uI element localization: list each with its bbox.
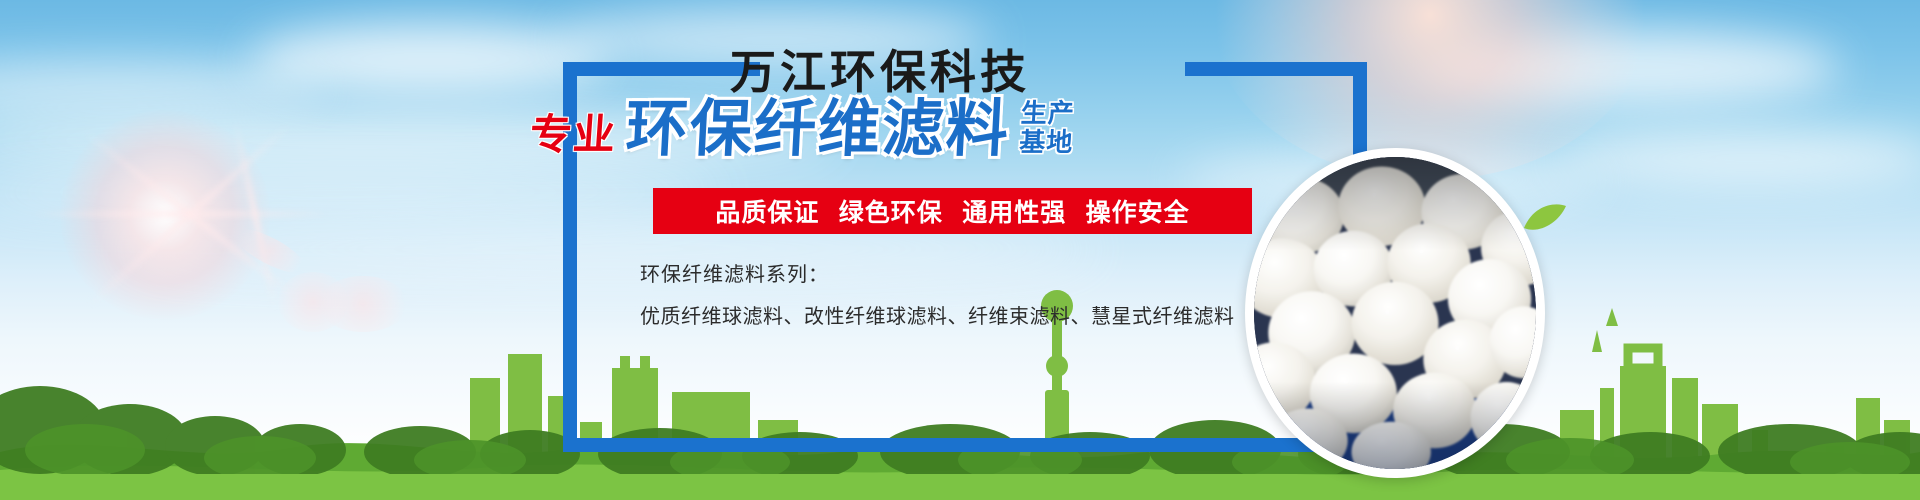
tree-silhouettes bbox=[0, 354, 1920, 474]
product-photo-circle bbox=[1245, 148, 1545, 478]
headline-main: 环保纤维滤料 bbox=[624, 98, 1011, 160]
feature-strip: 品质保证 绿色环保 通用性强 操作安全 bbox=[653, 188, 1252, 234]
lens-flare-ghost-1 bbox=[229, 221, 312, 282]
lens-flare-spike-diagonal-1 bbox=[82, 129, 298, 299]
lens-flare-spike-horizontal bbox=[30, 211, 330, 217]
promo-banner: 万江环保科技 专业 环保纤维滤料 生产 基地 品质保证 绿色环保 通用性强 操作… bbox=[0, 0, 1920, 500]
cloud-4 bbox=[1560, 130, 1920, 186]
lens-flare-ghost-2 bbox=[278, 272, 348, 332]
grass-and-treeline bbox=[0, 422, 1920, 500]
lens-flare-spike-vertical bbox=[233, 121, 277, 308]
feature-strip-text: 品质保证 绿色环保 通用性强 操作安全 bbox=[715, 193, 1189, 229]
leaf-icon bbox=[1522, 202, 1568, 236]
headline-suffix-line2: 基地 bbox=[1019, 130, 1074, 156]
fiber-ball-photo bbox=[1254, 157, 1536, 469]
headline-suffix-line1: 生产 bbox=[1020, 101, 1075, 127]
headline-prefix: 专业 bbox=[529, 114, 618, 156]
frame-bar-bottom bbox=[563, 438, 1367, 452]
series-list: 优质纤维球滤料、改性纤维球滤料、纤维束滤料、慧星式纤维滤料 bbox=[640, 300, 1235, 329]
series-label: 环保纤维滤料系列： bbox=[640, 258, 829, 287]
lens-flare-spike-diagonal-2 bbox=[88, 122, 292, 306]
cloud-band-2 bbox=[0, 176, 720, 208]
lens-flare bbox=[60, 110, 270, 320]
lens-flare-ghost-3 bbox=[318, 276, 408, 332]
headline-suffix: 生产 基地 bbox=[1019, 101, 1076, 156]
headline: 专业 环保纤维滤料 生产 基地 bbox=[530, 100, 1074, 162]
cloud-band-3 bbox=[120, 232, 1100, 266]
